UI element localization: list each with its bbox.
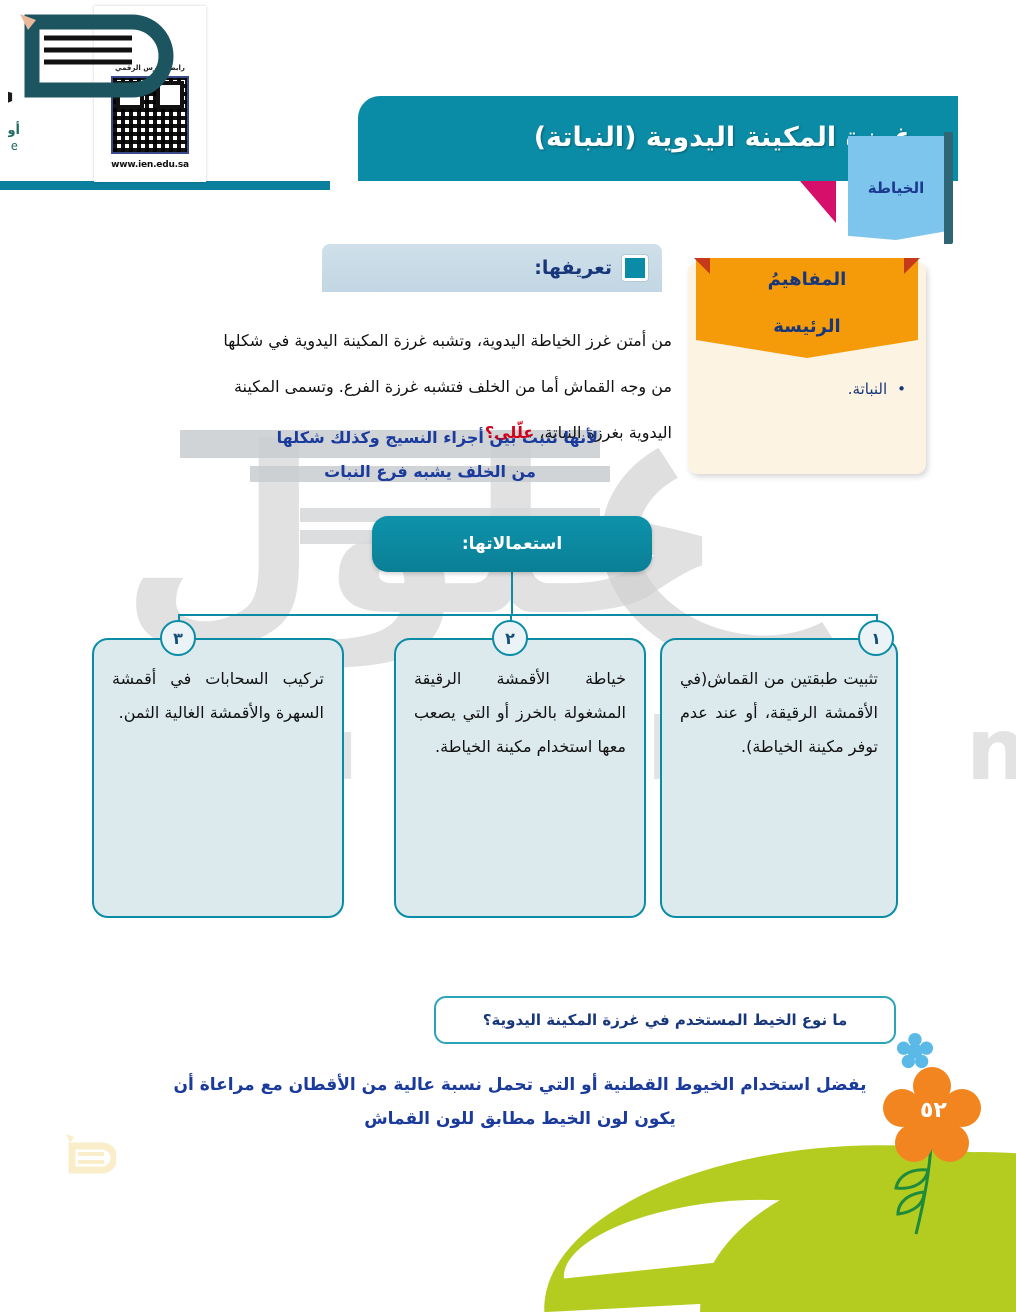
usage-box-2: خياطة الأقمشة الرقيقة المشغولة بالخرز أو… [394, 638, 646, 918]
question-pill: ما نوع الخيط المستخدم في غرزة المكينة ال… [434, 996, 896, 1044]
svg-text:حلول: حلول [8, 56, 18, 130]
key-concepts-title-line-2: الرئيسة [768, 315, 847, 338]
usages-heading: استعمالاتها: [372, 516, 652, 572]
key-concepts-list: النباتة. [704, 380, 906, 398]
unit-tab-label: الخياطة [868, 179, 925, 197]
key-concepts-title-line-1: المفاهيمُ [768, 268, 847, 291]
handwritten-answer-line-2: من الخلف يشبه فرع النبات [250, 462, 610, 481]
question-answer-line-1: يفضل استخدام الخيوط القطنية أو التي تحمل… [173, 1075, 866, 1095]
magenta-accent-wedge [800, 181, 836, 223]
page-number: ٥٢ [920, 1098, 947, 1123]
usage-number-1: ١ [858, 620, 894, 656]
definition-line-2: من وجه القماش أما من الخلف فتشبه غرزة ال… [180, 364, 672, 410]
definition-label: تعريفها: [534, 257, 612, 279]
definition-header-strip: تعريفها: [322, 244, 662, 292]
question-text: ما نوع الخيط المستخدم في غرزة المكينة ال… [483, 1011, 848, 1029]
masthead-rule [0, 181, 330, 190]
svg-text:hulul.online: hulul.online [8, 139, 20, 153]
key-concepts-banner: المفاهيمُ الرئيسة [696, 258, 918, 358]
definition-line-1: من أمتن غرز الخياطة اليدوية، وتشبه غرزة … [180, 318, 672, 364]
list-item: النباتة. [704, 380, 906, 398]
corner-fold-left-icon [904, 258, 920, 274]
usage-box-1: تثبيت طبقتين من القماش(في الأقمشة الرقيق… [660, 638, 898, 918]
usage-box-3: تركيب السحابات في أقمشة السهرة والأقمشة … [92, 638, 344, 918]
key-concepts-card: المفاهيمُ الرئيسة النباتة. [688, 262, 926, 474]
usage-number-2: ٢ [492, 620, 528, 656]
svg-text:أون لاين: أون لاين [8, 121, 20, 138]
bottom-left-book-watermark-icon [62, 1132, 116, 1194]
handwritten-answer-line-1: لأنها تنبت بين أجزاء النسيج وكذلك شكلها [178, 428, 598, 447]
question-answer: يفضل استخدام الخيوط القطنية أو التي تحمل… [150, 1068, 890, 1136]
corner-fold-right-icon [694, 258, 710, 274]
unit-tab[interactable]: الخياطة [848, 136, 944, 240]
usage-number-3: ٣ [160, 620, 196, 656]
question-answer-line-2: يكون لون الخيط مطابق للون القماش [150, 1102, 890, 1136]
usages-heading-label: استعمالاتها: [462, 534, 562, 554]
tab-spine [944, 132, 953, 244]
hulul-watermark-logo: حلول أون لاين hulul.online [8, 42, 208, 162]
tree-connector-stem [511, 572, 513, 616]
blue-flower-decoration [896, 1032, 934, 1070]
tree-connector-bar [178, 614, 878, 616]
page-title: غرزة المكينة اليدوية (النباتة) [404, 122, 913, 155]
square-bullet-icon [622, 255, 648, 281]
